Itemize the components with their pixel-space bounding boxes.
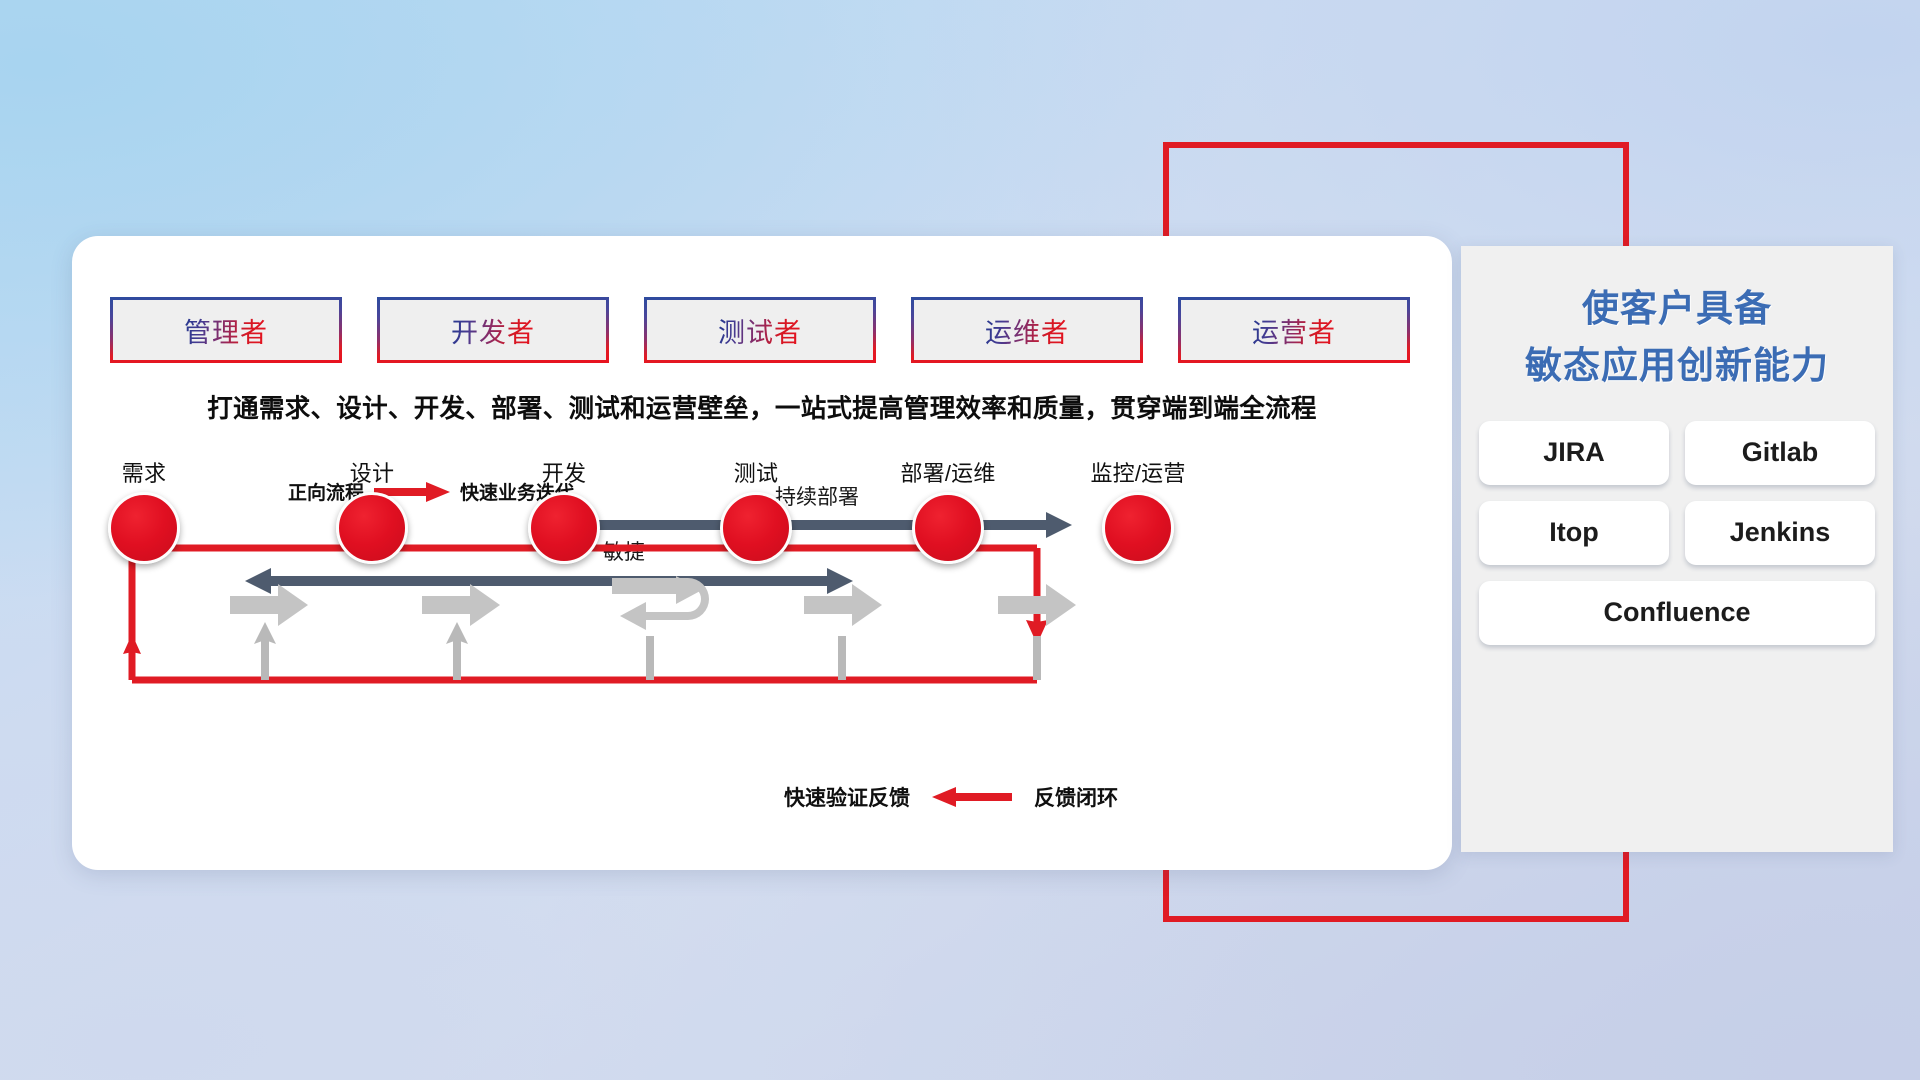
pipeline-node-dot [108,492,180,564]
block-arrow-right-icon [804,584,882,626]
diagram-canvas: 管理者 开发者 测试者 运维者 运营者 打通需求、设计、开发、部署、测试和运营壁… [0,0,1920,1080]
pipeline-node-label: 需求 [122,456,166,488]
feedback-right-label: 反馈闭环 [1034,782,1118,812]
pipeline-node-dot [912,492,984,564]
feedback-left-label: 快速验证反馈 [784,782,910,812]
block-arrow-right-icon [998,584,1076,626]
u-turn-loop-arrow-icon [612,572,720,638]
pipeline-node-label: 部署/运维 [900,456,995,488]
pipeline: 需求 设计 开发 测试 [72,236,1452,870]
main-card: 管理者 开发者 测试者 运维者 运营者 打通需求、设计、开发、部署、测试和运营壁… [72,236,1452,870]
pipeline-node-label: 测试 [734,456,778,488]
tool-chip-itop[interactable]: Itop [1479,501,1669,565]
tool-chip-confluence[interactable]: Confluence [1479,581,1875,645]
pipeline-node-label: 设计 [350,456,394,488]
pipeline-node-dot [720,492,792,564]
pipeline-node-dot [1102,492,1174,564]
block-arrow-right-icon [230,584,308,626]
tool-chip-gitlab[interactable]: Gitlab [1685,421,1875,485]
tool-chip-jira[interactable]: JIRA [1479,421,1669,485]
pipeline-node-dot [528,492,600,564]
feedback-caption: 快速验证反馈 反馈闭环 [784,782,1118,812]
side-panel-title: 使客户具备 敏态应用创新能力 [1461,246,1893,395]
side-panel-title-line2: 敏态应用创新能力 [1461,337,1893,394]
side-panel-title-line1: 使客户具备 [1461,280,1893,337]
side-panel: 使客户具备 敏态应用创新能力 JIRA Gitlab Itop Jenkins … [1461,246,1893,852]
pipeline-node-label: 开发 [542,456,586,488]
arrow-left-red-icon [932,787,1012,807]
tool-chip-jenkins[interactable]: Jenkins [1685,501,1875,565]
block-arrow-right-icon [422,584,500,626]
pipeline-node-dot [336,492,408,564]
tool-chip-grid: JIRA Gitlab Itop Jenkins Confluence [1479,421,1875,645]
pipeline-node-label: 监控/运营 [1090,456,1185,488]
